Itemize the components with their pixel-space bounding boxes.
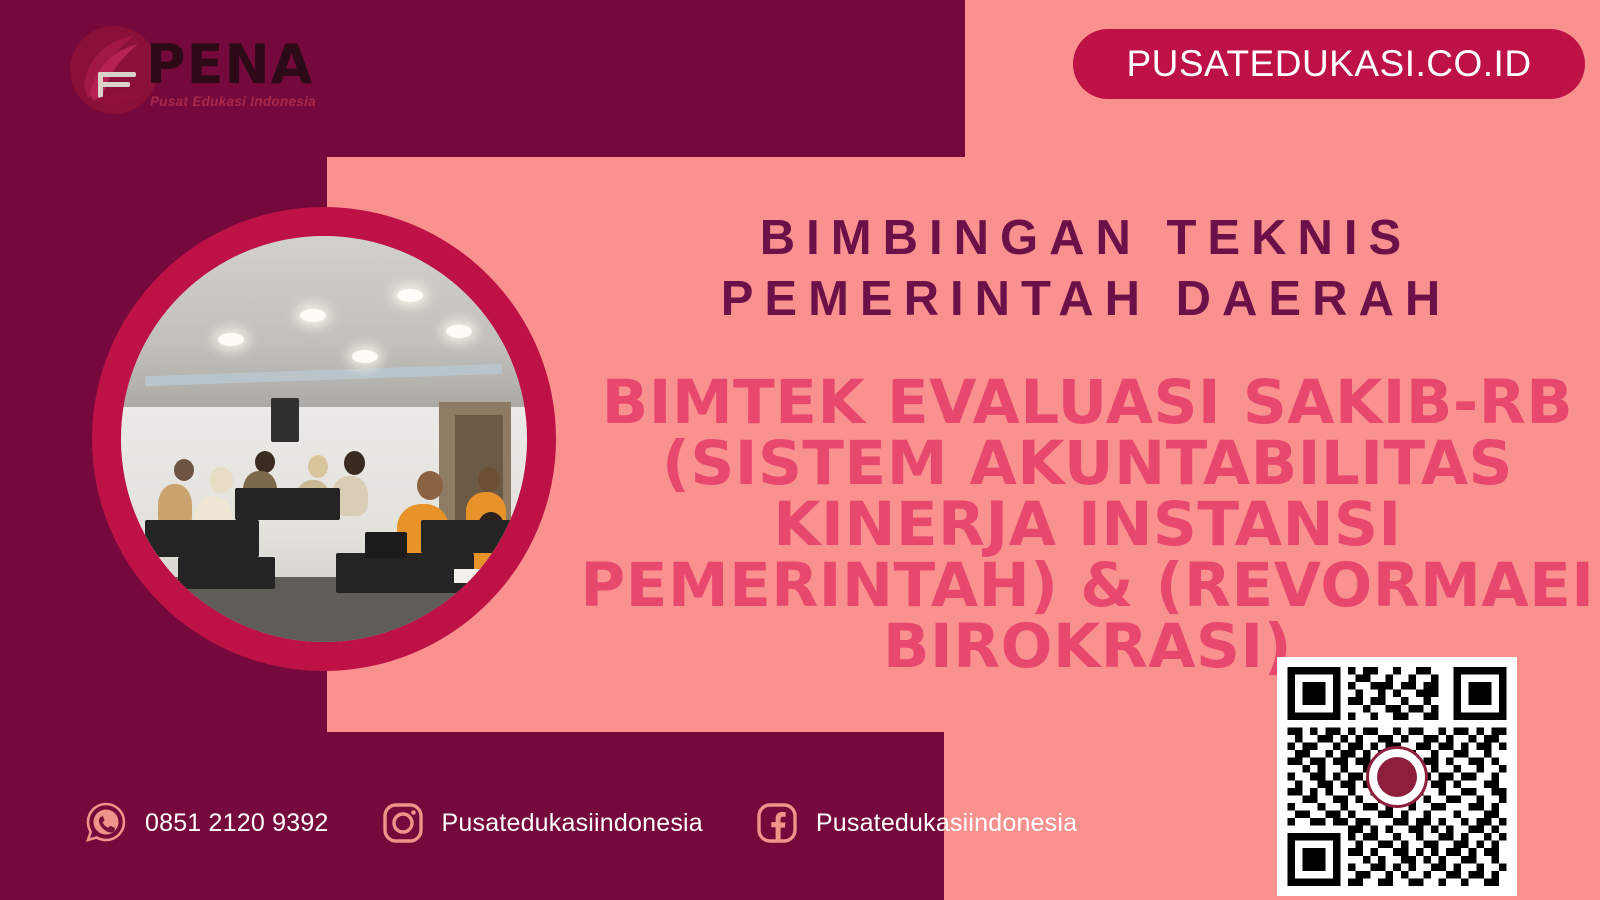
- pena-circular-seal-icon: [1366, 746, 1428, 808]
- qr-matrix: [1287, 667, 1507, 886]
- contact-facebook-label: Pusatedukasiindonesia: [816, 809, 1077, 838]
- qr-code[interactable]: [1277, 657, 1517, 896]
- headline-line-2: PEMERINTAH DAERAH: [596, 269, 1576, 330]
- logo-tagline: Pusat Edukasi Indonesia: [150, 94, 316, 109]
- logo-wordmark: PENA: [146, 38, 313, 92]
- headline-line-1: BIMBINGAN TEKNIS: [760, 211, 1412, 265]
- whatsapp-icon: [84, 801, 128, 845]
- event-headline: BIMBINGAN TEKNIS PEMERINTAH DAERAH: [596, 208, 1576, 330]
- seminar-photo: [121, 236, 527, 642]
- contact-bar: 0851 2120 9392 Pusatedukasiindonesia Pus…: [84, 793, 1129, 853]
- brand-logo[interactable]: PENA Pusat Edukasi Indonesia: [68, 22, 328, 117]
- promo-banner: PENA Pusat Edukasi Indonesia PUSATEDUKAS…: [0, 0, 1600, 900]
- seminar-photo-frame: [92, 207, 556, 671]
- contact-instagram-label: Pusatedukasiindonesia: [442, 809, 703, 838]
- website-url-pill[interactable]: PUSATEDUKASI.CO.ID: [1073, 29, 1585, 99]
- contact-instagram[interactable]: Pusatedukasiindonesia: [381, 801, 703, 845]
- facebook-icon: [755, 801, 799, 845]
- contact-whatsapp-label: 0851 2120 9392: [145, 809, 329, 838]
- instagram-icon: [381, 801, 425, 845]
- contact-whatsapp[interactable]: 0851 2120 9392: [84, 801, 329, 845]
- website-url-label: PUSATEDUKASI.CO.ID: [1126, 43, 1531, 85]
- event-subtitle: BIMTEK EVALUASI SAKIB-RB (SISTEM AKUNTAB…: [580, 372, 1595, 677]
- contact-facebook[interactable]: Pusatedukasiindonesia: [755, 801, 1077, 845]
